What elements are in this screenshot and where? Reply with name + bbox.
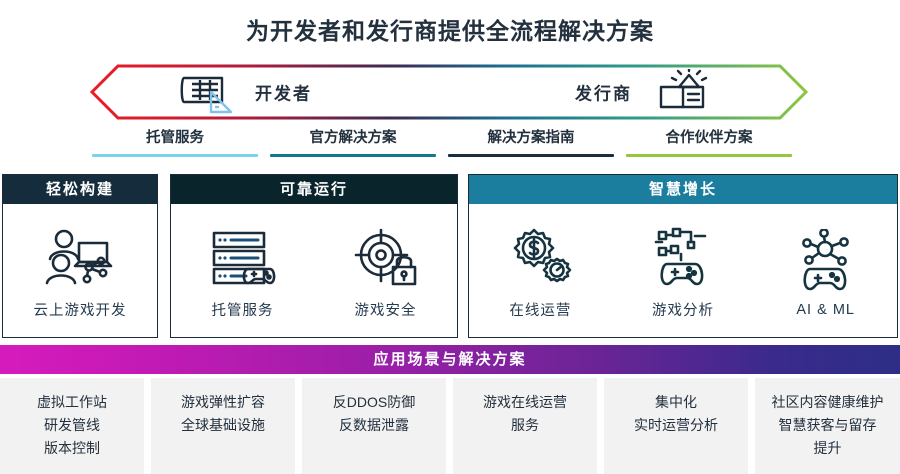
page-title: 为开发者和发行商提供全流程解决方案 bbox=[0, 12, 900, 46]
card-header: 轻松构建 bbox=[3, 175, 157, 204]
card-item-game-security[interactable]: 游戏安全 bbox=[314, 221, 457, 320]
target-lock-icon bbox=[351, 221, 421, 295]
banner-label-developer: 开发者 bbox=[255, 80, 312, 105]
tab-underline bbox=[626, 154, 792, 157]
scenario-line: 反数据泄露 bbox=[339, 414, 409, 437]
scenario-line: 全球基础设施 bbox=[181, 414, 265, 437]
scenario-line: 智慧获客与留存 bbox=[779, 414, 877, 437]
tab-label: 合作伙伴方案 bbox=[624, 126, 794, 154]
tab-underline bbox=[270, 154, 436, 157]
people-laptop-icon bbox=[43, 221, 117, 295]
scenario-cell-1[interactable]: 虚拟工作站 研发管线 版本控制 bbox=[0, 378, 144, 474]
scenario-cell-3[interactable]: 反DDOS防御 反数据泄露 bbox=[302, 378, 446, 474]
slide-canvas: 为开发者和发行商提供全流程解决方案 bbox=[0, 0, 900, 474]
tab-label: 官方解决方案 bbox=[268, 126, 438, 154]
card-item-label: AI & ML bbox=[796, 302, 855, 318]
scenario-cell-row: 虚拟工作站 研发管线 版本控制 游戏弹性扩容 全球基础设施 反DDOS防御 反数… bbox=[0, 378, 900, 474]
card-header: 可靠运行 bbox=[171, 175, 457, 204]
scenario-line: 虚拟工作站 bbox=[37, 391, 107, 414]
scenario-cell-2[interactable]: 游戏弹性扩容 全球基础设施 bbox=[151, 378, 295, 474]
card-item-cloud-game-dev[interactable]: 云上游戏开发 bbox=[3, 221, 157, 320]
card-build[interactable]: 轻松构建 bbox=[2, 174, 158, 338]
server-gamepad-icon bbox=[208, 221, 278, 295]
tab-hosting[interactable]: 托管服务 bbox=[90, 126, 260, 157]
card-item-game-analytics[interactable]: 游戏分析 bbox=[612, 221, 755, 320]
tab-underline bbox=[92, 154, 258, 157]
tab-solution-guide[interactable]: 解决方案指南 bbox=[446, 126, 616, 157]
card-item-hosting[interactable]: 托管服务 bbox=[171, 221, 314, 320]
tab-strip: 托管服务 官方解决方案 解决方案指南 合作伙伴方案 bbox=[90, 126, 810, 162]
scenario-cell-4[interactable]: 游戏在线运营 服务 bbox=[453, 378, 597, 474]
capability-card-row: 轻松构建 bbox=[0, 174, 900, 340]
scenario-cell-5[interactable]: 集中化 实时运营分析 bbox=[604, 378, 748, 474]
scenario-line: 社区内容健康维护 bbox=[772, 391, 884, 414]
tab-partner-solution[interactable]: 合作伙伴方案 bbox=[624, 126, 794, 157]
scenario-line: 反DDOS防御 bbox=[333, 391, 415, 414]
card-item-label: 在线运营 bbox=[509, 299, 571, 320]
card-item-ai-ml[interactable]: AI & ML bbox=[754, 224, 897, 318]
scenario-line: 提升 bbox=[814, 437, 842, 460]
card-growth[interactable]: 智慧增长 bbox=[468, 174, 898, 338]
tab-label: 解决方案指南 bbox=[446, 126, 616, 154]
card-header: 智慧增长 bbox=[469, 175, 897, 204]
scenario-line: 服务 bbox=[511, 414, 539, 437]
card-operate[interactable]: 可靠运行 bbox=[170, 174, 458, 338]
tab-underline bbox=[448, 154, 614, 157]
chart-gamepad-icon bbox=[647, 221, 719, 295]
tab-label: 托管服务 bbox=[90, 126, 260, 154]
network-gamepad-icon bbox=[790, 224, 862, 298]
card-item-label: 游戏分析 bbox=[652, 299, 714, 320]
scenario-banner: 应用场景与解决方案 bbox=[0, 345, 900, 374]
scenario-line: 游戏弹性扩容 bbox=[181, 391, 265, 414]
scenario-cell-6[interactable]: 社区内容健康维护 智慧获客与留存 提升 bbox=[755, 378, 900, 474]
process-arrow-banner: 开发者 发行商 bbox=[90, 64, 810, 120]
scenario-line: 集中化 bbox=[655, 391, 697, 414]
scenario-line: 实时运营分析 bbox=[634, 414, 718, 437]
card-item-label: 云上游戏开发 bbox=[34, 299, 127, 320]
gears-dollar-icon bbox=[504, 221, 576, 295]
card-item-label: 托管服务 bbox=[212, 299, 274, 320]
scenario-line: 游戏在线运营 bbox=[483, 391, 567, 414]
scenario-line: 版本控制 bbox=[44, 437, 100, 460]
card-item-online-operation[interactable]: 在线运营 bbox=[469, 221, 612, 320]
tab-official-solution[interactable]: 官方解决方案 bbox=[268, 126, 438, 157]
scenario-line: 研发管线 bbox=[44, 414, 100, 437]
card-item-label: 游戏安全 bbox=[355, 299, 417, 320]
banner-label-publisher: 发行商 bbox=[575, 80, 632, 105]
